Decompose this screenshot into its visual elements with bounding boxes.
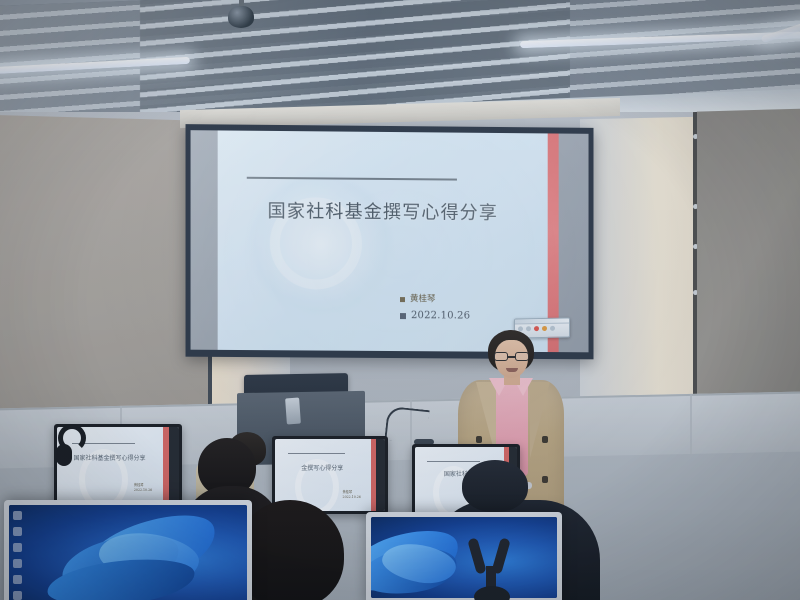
monitor-brand-plate (285, 398, 301, 425)
desktop-icon[interactable] (13, 527, 22, 536)
dome-security-camera (228, 0, 254, 28)
desktop-icon[interactable] (13, 559, 22, 568)
slide-bullet-author: 黄桂琴 (410, 292, 435, 307)
lecture-hall-photo: 国家社科基金撰写心得分享 黄桂琴 2022.10.26 (0, 0, 800, 600)
audience-member-right-head (462, 460, 528, 512)
slide-title: 国家社科基金撰写心得分享 (218, 197, 548, 226)
coat-button (542, 476, 548, 483)
desktop-screen[interactable] (9, 505, 247, 600)
windows11-desktop-right[interactable] (366, 512, 562, 600)
bullet-square-icon (400, 313, 406, 319)
headphone-stand (470, 538, 524, 600)
slide-bullet-date: 2022.10.26 (411, 307, 470, 325)
monitor-slide-bullets: 黄桂琴 2022.10.26 (343, 490, 361, 500)
desktop-icon[interactable] (13, 511, 22, 520)
slide-bullet-list: 黄桂琴 2022.10.26 (400, 292, 470, 325)
headset (56, 424, 88, 470)
slide-content: 国家社科基金撰写心得分享 黄桂琴 2022.10.26 (218, 130, 548, 352)
slide-bullet-item: 2022.10.26 (400, 307, 470, 325)
slide-bullet-item: 黄桂琴 (400, 292, 470, 307)
desktop-icon[interactable] (13, 575, 22, 584)
desktop-icon-column[interactable] (13, 511, 22, 600)
coat-button (542, 436, 548, 443)
presenter-lapel-right (530, 382, 550, 458)
eyeglasses-icon (494, 352, 529, 361)
coat-button (476, 436, 482, 443)
desktop-screen[interactable] (371, 517, 557, 598)
monitor-slide-bullets: 黄桂琴 2022.10.26 (134, 483, 152, 493)
bullet-square-icon (400, 297, 405, 302)
desktop-icon[interactable] (13, 591, 22, 600)
desktop-icon[interactable] (13, 543, 22, 552)
gooseneck-microphone (386, 406, 432, 442)
windows11-desktop-left[interactable] (4, 500, 252, 600)
screen-blank-left (191, 130, 218, 350)
audience-member-center-front (236, 500, 344, 600)
monitor-slide-title: 金撰写心得分享 (275, 463, 370, 472)
left-wall-panel (0, 115, 212, 451)
